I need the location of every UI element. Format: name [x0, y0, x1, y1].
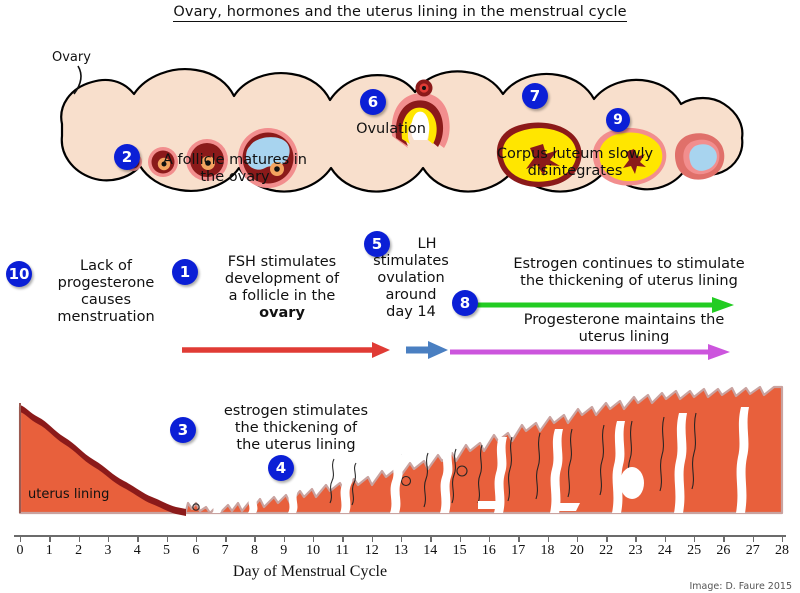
x-tick	[460, 535, 461, 542]
x-tick	[665, 535, 666, 542]
caption-estrogen-thickening: estrogen stimulates the thickening of th…	[196, 403, 396, 454]
x-tick	[606, 535, 607, 542]
x-tick	[577, 535, 578, 542]
x-tick-label: 8	[251, 543, 258, 559]
x-tick	[225, 535, 226, 542]
caption-corpus-luteum: Corpus luteum slowly disintegrates	[470, 146, 680, 180]
x-tick-label: 1	[46, 543, 53, 559]
x-tick-label: 7	[222, 543, 229, 559]
x-tick	[196, 535, 197, 542]
image-credit: Image: D. Faure 2015	[689, 581, 792, 592]
x-tick-label: 14	[423, 543, 437, 559]
x-tick	[753, 535, 754, 542]
x-tick	[489, 535, 490, 542]
x-tick	[108, 535, 109, 542]
x-axis-line	[14, 535, 786, 537]
step-badge-10[interactable]: 10	[6, 261, 32, 287]
ovary-label: Ovary	[52, 50, 91, 65]
x-tick	[342, 535, 343, 542]
x-tick-label: 11	[336, 543, 349, 559]
step-badge-8[interactable]: 8	[452, 290, 478, 316]
x-tick	[254, 535, 255, 542]
x-tick-label: 24	[658, 543, 672, 559]
x-tick	[167, 535, 168, 542]
x-tick	[548, 535, 549, 542]
x-tick-label: 20	[570, 543, 584, 559]
x-tick-label: 26	[716, 543, 730, 559]
page-title: Ovary, hormones and the uterus lining in…	[0, 4, 800, 20]
x-tick-label: 22	[599, 543, 613, 559]
page-title-text: Ovary, hormones and the uterus lining in…	[173, 4, 626, 22]
ovary-section: Ovary 2 6 7 9 A follicle matures in the …	[0, 36, 800, 226]
x-tick-label: 9	[280, 543, 287, 559]
x-tick-label: 0	[17, 543, 24, 559]
caption-ovulation: Ovulation	[336, 121, 446, 138]
x-tick-label: 25	[687, 543, 701, 559]
hormone-arrows	[0, 228, 800, 378]
x-tick-label: 27	[746, 543, 760, 559]
x-tick	[694, 535, 695, 542]
x-tick-label: 23	[628, 543, 642, 559]
x-tick-label: 6	[192, 543, 199, 559]
fsh-arrow	[182, 342, 390, 358]
step-badge-1[interactable]: 1	[172, 259, 198, 285]
x-tick-label: 3	[104, 543, 111, 559]
x-tick-label: 10	[306, 543, 320, 559]
x-tick-label: 15	[453, 543, 467, 559]
x-tick	[430, 535, 431, 542]
x-tick	[49, 535, 50, 542]
x-tick	[401, 535, 402, 542]
x-tick-label: 2	[75, 543, 82, 559]
step-badge-9[interactable]: 9	[606, 108, 630, 132]
progesterone-arrow	[450, 344, 730, 360]
x-tick-label: 28	[775, 543, 789, 559]
x-tick	[20, 535, 21, 542]
x-tick-label: 13	[394, 543, 408, 559]
lh-arrow	[406, 341, 448, 359]
corpus-albicans	[675, 133, 724, 179]
caption-follicle-matures: A follicle matures in the ovary	[140, 152, 330, 186]
x-tick-label: 16	[482, 543, 496, 559]
uterus-lining-inline-label: uterus lining	[28, 487, 109, 502]
x-tick	[635, 535, 636, 542]
step-badge-5[interactable]: 5	[364, 231, 390, 257]
hormone-section: 10 Lack of progesterone causes menstruat…	[0, 228, 800, 378]
x-tick	[782, 535, 783, 542]
uterus-lining-chart: uterus lining 3 estrogen stimulates the …	[0, 385, 800, 593]
x-tick	[284, 535, 285, 542]
x-tick-label: 5	[163, 543, 170, 559]
estrogen-arrow	[470, 297, 734, 313]
step-badge-6[interactable]: 6	[360, 89, 386, 115]
x-tick	[137, 535, 138, 542]
x-tick	[372, 535, 373, 542]
step-badge-2[interactable]: 2	[114, 144, 140, 170]
diagram-canvas: Ovary, hormones and the uterus lining in…	[0, 0, 800, 593]
x-tick	[79, 535, 80, 542]
x-tick-label: 12	[365, 543, 379, 559]
x-tick	[313, 535, 314, 542]
step-badge-7[interactable]: 7	[522, 83, 548, 109]
x-tick	[518, 535, 519, 542]
step-badge-4[interactable]: 4	[268, 455, 294, 481]
x-tick	[723, 535, 724, 542]
x-tick-label: 18	[541, 543, 555, 559]
x-axis-label: Day of Menstrual Cycle	[0, 563, 620, 581]
lining-area-plot	[0, 385, 800, 537]
x-tick-label: 17	[511, 543, 525, 559]
step-badge-3[interactable]: 3	[170, 417, 196, 443]
x-tick-label: 4	[134, 543, 141, 559]
